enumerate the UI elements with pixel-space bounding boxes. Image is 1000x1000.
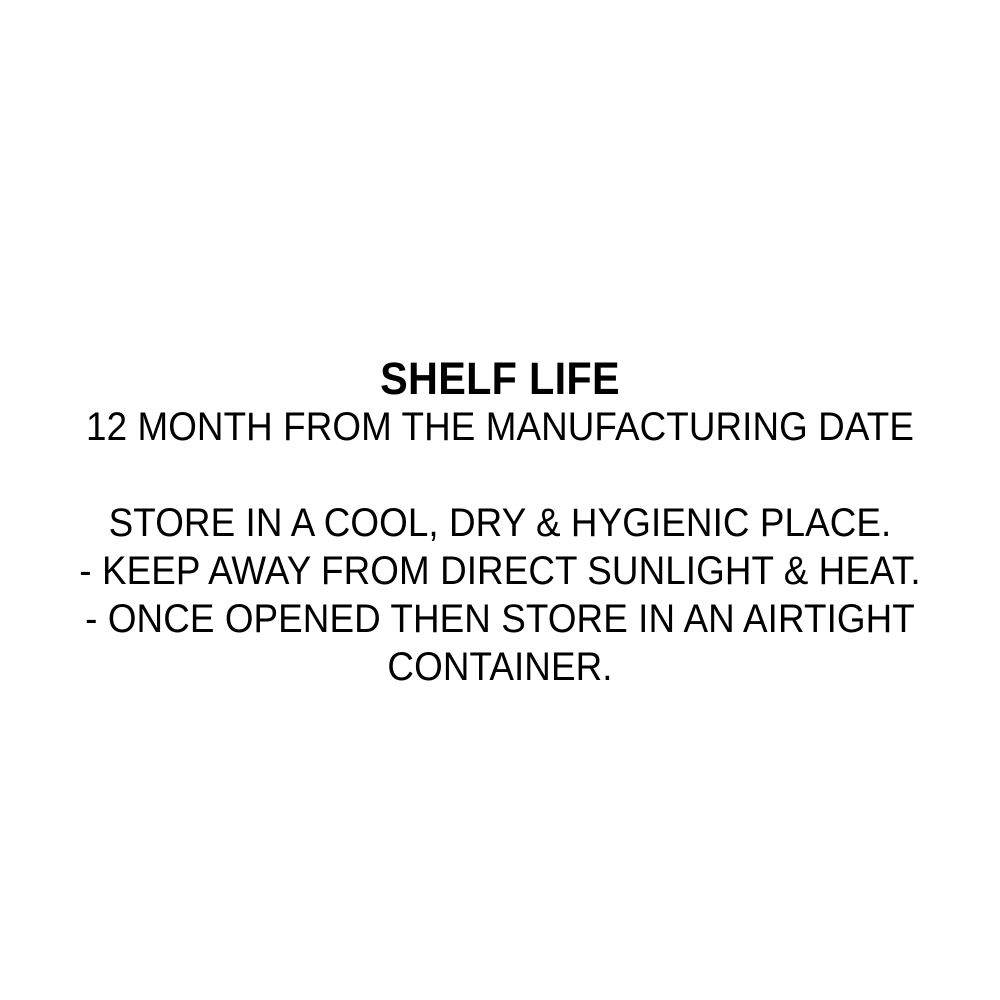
storage-instruction-line-3: - ONCE OPENED THEN STORE IN AN AIRTIGHT — [40, 595, 960, 643]
paragraph-spacer — [0, 451, 1000, 499]
storage-instruction-line-1: STORE IN A COOL, DRY & HYGIENIC PLACE. — [40, 499, 960, 547]
shelf-life-duration: 12 MONTH FROM THE MANUFACTURING DATE — [40, 403, 960, 451]
storage-instruction-line-4: CONTAINER. — [40, 643, 960, 691]
shelf-life-text-block: SHELF LIFE 12 MONTH FROM THE MANUFACTURI… — [0, 355, 1000, 691]
shelf-life-heading: SHELF LIFE — [40, 355, 960, 403]
storage-instruction-line-2: - KEEP AWAY FROM DIRECT SUNLIGHT & HEAT. — [40, 547, 960, 595]
label-canvas: SHELF LIFE 12 MONTH FROM THE MANUFACTURI… — [0, 0, 1000, 1000]
